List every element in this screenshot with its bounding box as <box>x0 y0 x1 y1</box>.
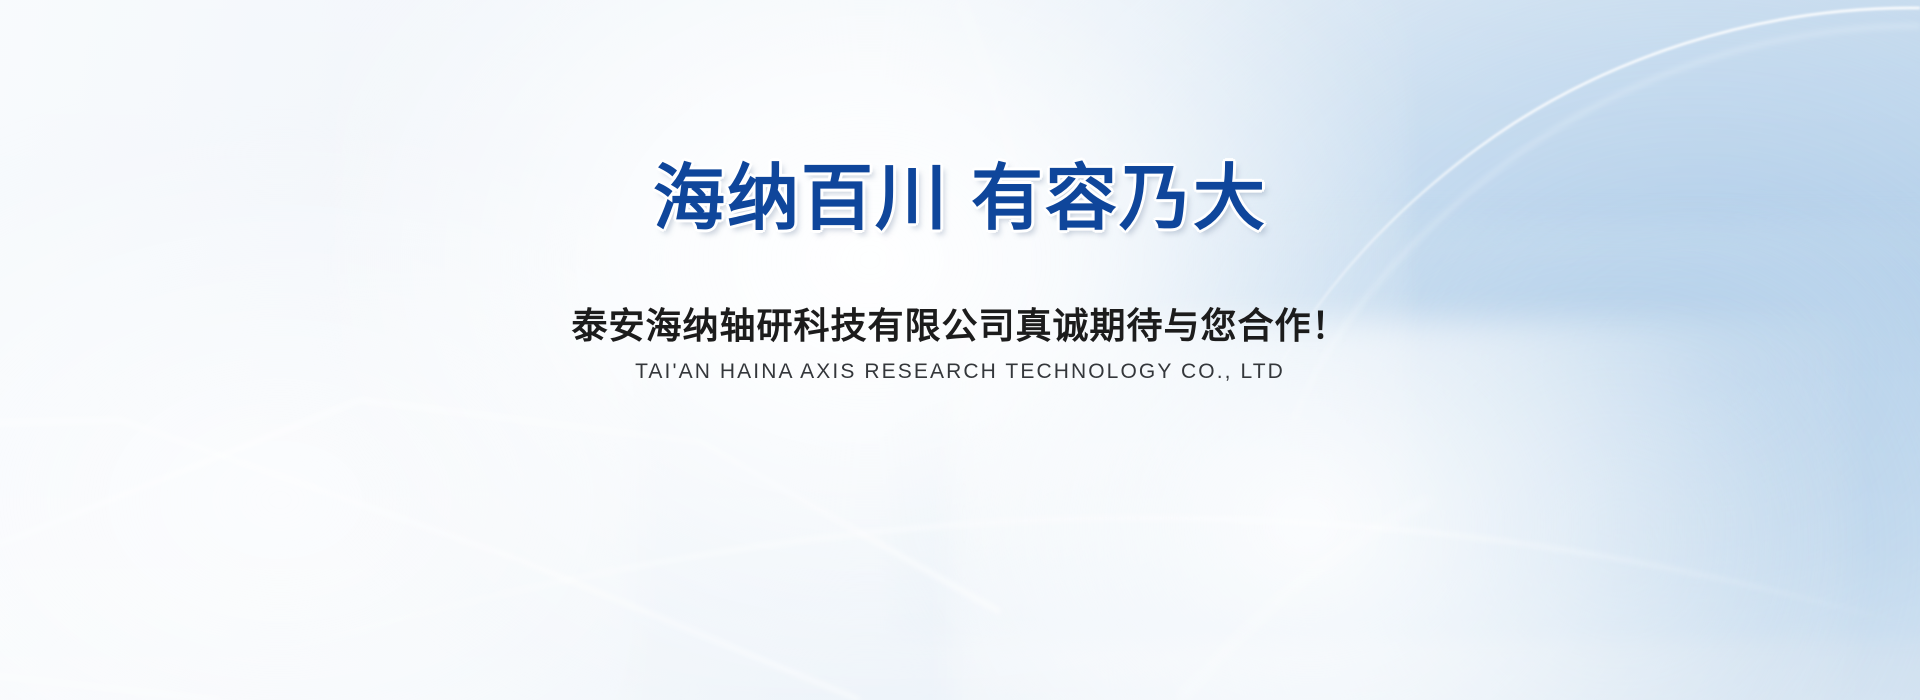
banner-subtitle-english: TAI'AN HAINA AXIS RESEARCH TECHNOLOGY CO… <box>635 361 1285 382</box>
banner-content: 海纳百川 有容乃大 泰安海纳轴研科技有限公司真诚期待与您合作！ TAI'AN H… <box>0 0 1920 700</box>
banner-headline: 海纳百川 有容乃大 <box>653 163 1267 235</box>
banner-subtitle-chinese: 泰安海纳轴研科技有限公司真诚期待与您合作！ <box>571 308 1348 344</box>
hero-banner: 海纳百川 有容乃大 泰安海纳轴研科技有限公司真诚期待与您合作！ TAI'AN H… <box>0 0 1920 700</box>
